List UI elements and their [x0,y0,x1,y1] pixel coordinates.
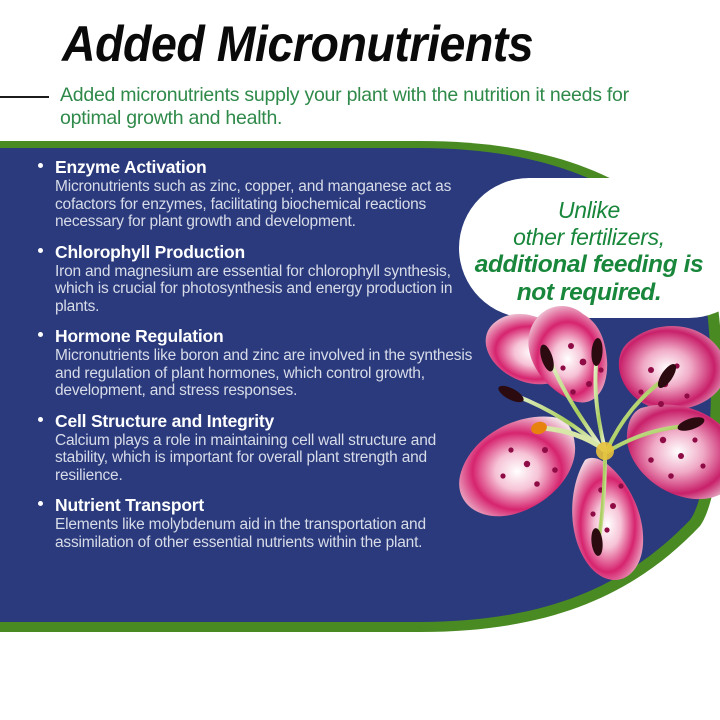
list-item-heading: Nutrient Transport [55,495,478,515]
bullet-dot-icon [38,417,43,422]
list-item-body: Calcium plays a role in maintaining cell… [55,432,478,485]
list-item: Cell Structure and Integrity Calcium pla… [38,411,478,485]
bullet-dot-icon [38,248,43,253]
callout-line-1: Unlike [473,197,705,224]
list-item-heading: Hormone Regulation [55,326,478,346]
list-item: Hormone Regulation Micronutrients like b… [38,326,478,400]
list-item: Chlorophyll Production Iron and magnesiu… [38,242,478,316]
list-item-body: Iron and magnesium are essential for chl… [55,263,478,316]
callout-line-4: not required. [473,279,705,307]
bullet-dot-icon [38,163,43,168]
benefits-list: Enzyme Activation Micronutrients such as… [38,157,478,551]
bullet-dot-icon [38,501,43,506]
list-item-body: Elements like molybdenum aid in the tran… [55,516,478,551]
list-item-heading: Enzyme Activation [55,157,478,177]
callout-bubble: Unlike other fertilizers, additional fee… [459,178,720,318]
callout-text-block: Unlike other fertilizers, additional fee… [473,197,705,307]
list-item-body: Micronutrients like boron and zinc are i… [55,347,478,400]
infographic-root: Added Micronutrients Added micronutrient… [0,0,720,720]
list-item: Nutrient Transport Elements like molybde… [38,495,478,551]
header-section: Added Micronutrients Added micronutrient… [0,0,720,141]
list-item-heading: Cell Structure and Integrity [55,411,478,431]
page-title: Added Micronutrients [62,16,533,72]
bullet-dot-icon [38,332,43,337]
callout-line-3: additional feeding is [473,251,705,279]
callout-line-2: other fertilizers, [473,224,705,251]
header-rule [0,96,49,98]
header-subtitle: Added micronutrients supply your plant w… [60,84,660,130]
list-item-heading: Chlorophyll Production [55,242,478,262]
list-item: Enzyme Activation Micronutrients such as… [38,157,478,231]
list-item-body: Micronutrients such as zinc, copper, and… [55,178,478,231]
